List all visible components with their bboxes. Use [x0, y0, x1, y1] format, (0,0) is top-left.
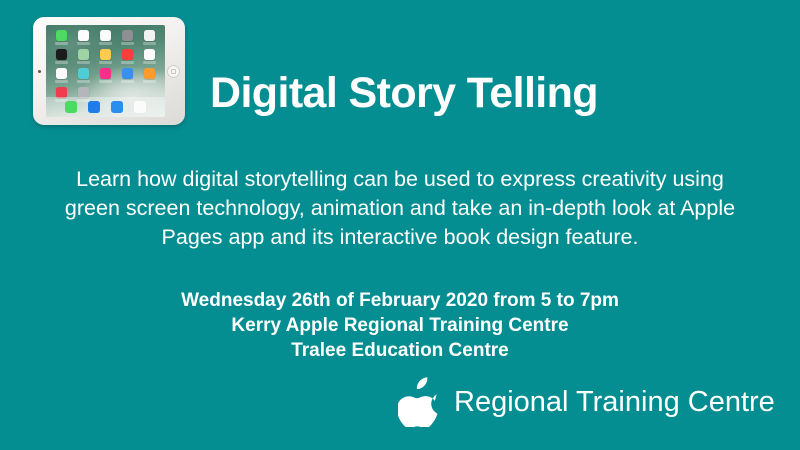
ipad-screen — [46, 25, 165, 117]
app-label — [99, 42, 112, 45]
app-store-app-icon — [144, 68, 155, 79]
ipad-body — [33, 17, 185, 125]
app-cell — [143, 30, 156, 47]
branding-footer: Regional Training Centre — [398, 377, 775, 427]
branding-text: Regional Training Centre — [454, 386, 775, 419]
music-dock-icon — [134, 101, 146, 113]
apple-logo-icon — [398, 377, 440, 427]
ipad-dock — [46, 97, 165, 117]
app-label — [55, 61, 68, 64]
app-cell — [77, 68, 90, 85]
app-label — [55, 42, 68, 45]
facetime-dock-icon — [111, 101, 123, 113]
videos-app-icon — [78, 68, 89, 79]
app-cell — [99, 49, 112, 66]
pages-app-icon — [56, 68, 67, 79]
event-poster: Digital Story Telling Learn how digital … — [0, 0, 800, 450]
app-cell — [143, 49, 156, 66]
app-cell — [55, 30, 68, 47]
app-label — [143, 80, 156, 83]
front-camera-icon — [38, 70, 41, 73]
app-label — [77, 80, 90, 83]
app-cell — [55, 68, 68, 85]
app-cell — [99, 68, 112, 85]
app-cell — [99, 30, 112, 47]
app-cell — [77, 49, 90, 66]
calendar-app-icon — [78, 30, 89, 41]
app-label — [143, 61, 156, 64]
event-venue-line: Kerry Apple Regional Training Centre — [0, 313, 800, 338]
poster-description: Learn how digital storytelling can be us… — [55, 165, 745, 252]
app-label — [77, 42, 90, 45]
app-cell — [121, 68, 134, 85]
app-label — [55, 80, 68, 83]
contacts-app-icon — [144, 30, 155, 41]
event-details-block: Wednesday 26th of February 2020 from 5 t… — [0, 288, 800, 363]
app-cell — [121, 49, 134, 66]
event-location-line: Tralee Education Centre — [0, 338, 800, 363]
ipad-device-image — [33, 17, 185, 125]
facetime-app-icon — [56, 30, 67, 41]
home-button-icon — [167, 65, 180, 78]
app-cell — [121, 30, 134, 47]
app-label — [99, 61, 112, 64]
camera-app-icon — [122, 30, 133, 41]
reminders-app-icon — [144, 49, 155, 60]
app-label — [121, 80, 134, 83]
music-app-icon — [100, 68, 111, 79]
ipad-app-grid — [51, 30, 160, 104]
app-label — [77, 61, 90, 64]
app-cell — [77, 30, 90, 47]
app-label — [143, 42, 156, 45]
clock-app-icon — [56, 49, 67, 60]
itunes-store-app-icon — [122, 68, 133, 79]
maps-app-icon — [78, 49, 89, 60]
event-date-line: Wednesday 26th of February 2020 from 5 t… — [0, 288, 800, 313]
notes-app-icon — [100, 49, 111, 60]
app-cell — [55, 49, 68, 66]
app-label — [121, 61, 134, 64]
news-app-icon — [122, 49, 133, 60]
app-label — [99, 80, 112, 83]
messages-dock-icon — [65, 101, 77, 113]
poster-title: Digital Story Telling — [210, 71, 598, 116]
app-label — [121, 42, 134, 45]
app-cell — [143, 68, 156, 85]
safari-dock-icon — [88, 101, 100, 113]
photos-app-icon — [100, 30, 111, 41]
